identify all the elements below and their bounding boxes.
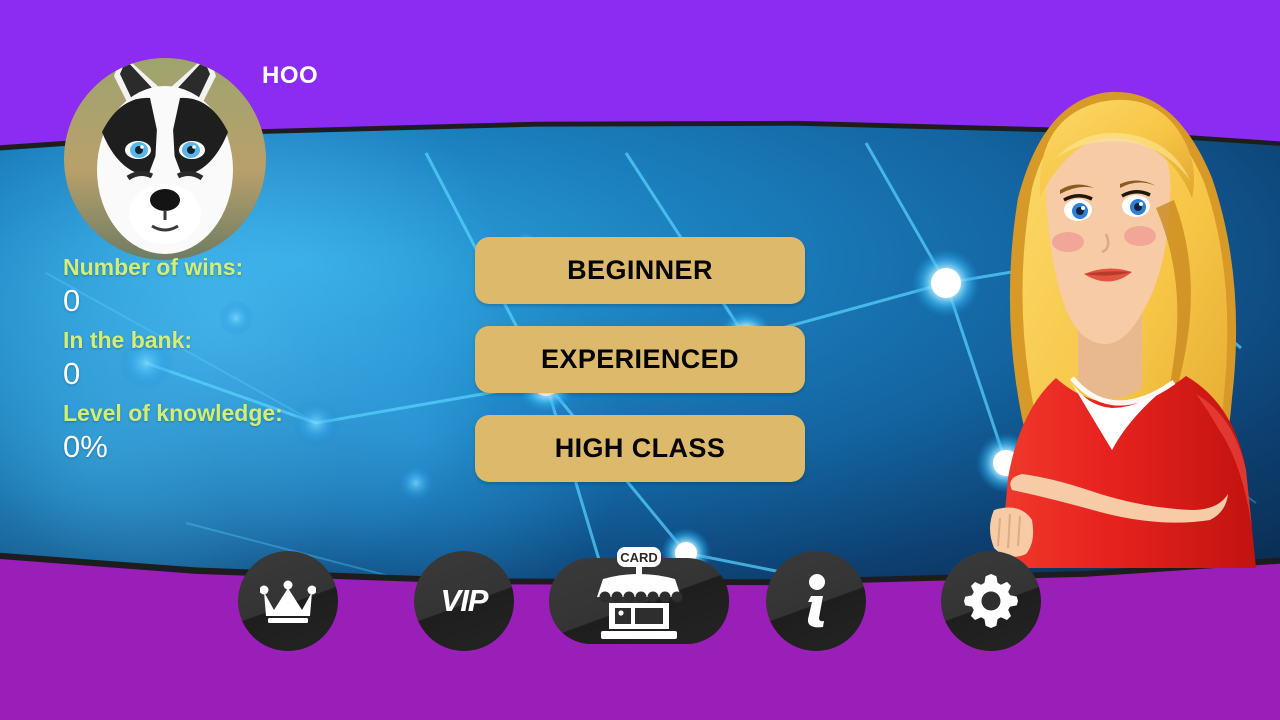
nav-button-settings[interactable] xyxy=(941,551,1041,651)
nav-button-crown[interactable] xyxy=(238,551,338,651)
game-lobby-screen: HOO Number of wins: 0 In the bank: 0 Lev… xyxy=(0,0,1280,720)
stat-label-wins: Number of wins: xyxy=(63,256,283,279)
info-icon xyxy=(799,574,833,628)
gear-icon xyxy=(964,574,1018,628)
shop-card-icon: CARD xyxy=(593,561,685,641)
bottom-navigation: VIP CARD xyxy=(0,548,1280,658)
difficulty-button-experienced[interactable]: EXPERIENCED xyxy=(475,326,805,393)
stat-value-wins: 0 xyxy=(63,285,283,316)
svg-text:CARD: CARD xyxy=(620,550,658,565)
stat-value-bank: 0 xyxy=(63,358,283,389)
difficulty-button-group: BEGINNER EXPERIENCED HIGH CLASS xyxy=(475,237,805,504)
nav-button-info[interactable] xyxy=(766,551,866,651)
difficulty-button-beginner[interactable]: BEGINNER xyxy=(475,237,805,304)
nav-button-shop[interactable]: CARD xyxy=(549,558,729,644)
stat-label-knowledge: Level of knowledge: xyxy=(63,402,283,425)
stat-label-bank: In the bank: xyxy=(63,329,283,352)
difficulty-button-high-class[interactable]: HIGH CLASS xyxy=(475,415,805,482)
avatar[interactable] xyxy=(64,58,266,260)
nav-button-vip[interactable]: VIP xyxy=(414,551,514,651)
vip-label: VIP xyxy=(441,583,488,619)
crown-icon xyxy=(260,578,316,624)
stat-value-knowledge: 0% xyxy=(63,431,283,462)
username-label: HOO xyxy=(262,62,318,90)
player-stats: Number of wins: 0 In the bank: 0 Level o… xyxy=(63,256,283,475)
character-illustration xyxy=(960,58,1280,568)
